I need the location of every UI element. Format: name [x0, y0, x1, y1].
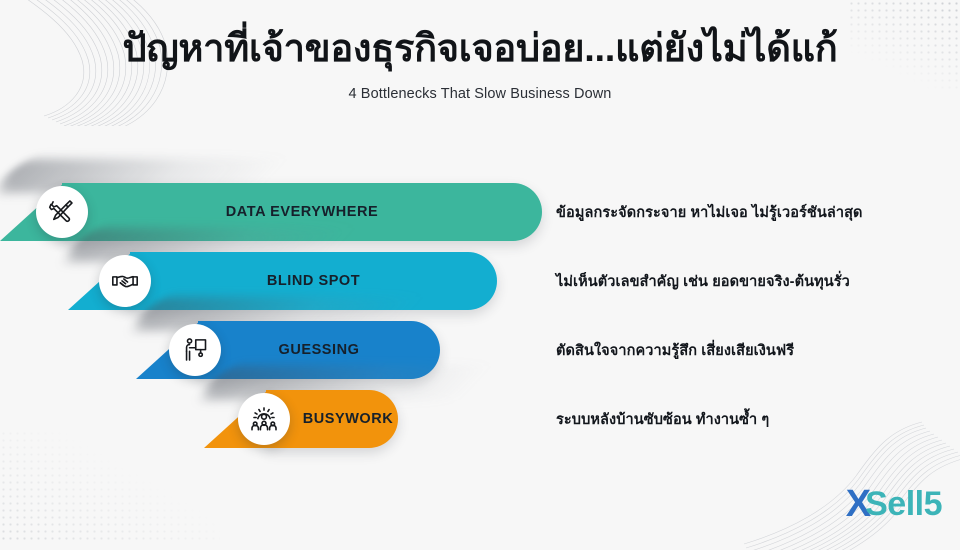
funnel-step-badge-2[interactable]	[99, 255, 151, 307]
logo-wordmark: Sell5	[865, 487, 942, 521]
brand-logo[interactable]: X Sell5	[846, 480, 942, 528]
funnel-step-description: ข้อมูลกระจัดกระจาย หาไม่เจอ ไม่รู้เวอร์ช…	[556, 201, 863, 224]
funnel-step-description: ตัดสินใจจากความรู้สึก เสี่ยงเสียเงินฟรี	[556, 339, 794, 362]
slide-header: ปัญหาที่เจ้าของธุรกิจเจอบ่อย...แต่ยังไม่…	[0, 26, 960, 102]
tools-icon	[47, 197, 77, 227]
page-title: ปัญหาที่เจ้าของธุรกิจเจอบ่อย...แต่ยังไม่…	[0, 26, 960, 74]
slide-canvas: ปัญหาที่เจ้าของธุรกิจเจอบ่อย...แต่ยังไม่…	[0, 0, 960, 540]
funnel-step-description: ระบบหลังบ้านซับซ้อน ทำงานซ้ำ ๆ	[556, 408, 769, 431]
funnel-bar-label: BUSYWORK	[282, 390, 414, 448]
funnel-step-badge-4[interactable]	[238, 393, 290, 445]
funnel-step-badge-3[interactable]	[169, 324, 221, 376]
presentation-icon	[180, 335, 210, 365]
handshake-icon	[110, 266, 140, 296]
funnel-step-description: ไม่เห็นตัวเลขสำคัญ เช่น ยอดขายจริง-ต้นทุ…	[556, 270, 850, 293]
funnel-diagram: DATA EVERYWHERE ข้อมูลกระจัดกระจาย หาไม่…	[0, 150, 960, 480]
page-subtitle: 4 Bottlenecks That Slow Business Down	[0, 86, 960, 102]
funnel-step-badge-1[interactable]	[36, 186, 88, 238]
gear-people-icon	[249, 404, 279, 434]
